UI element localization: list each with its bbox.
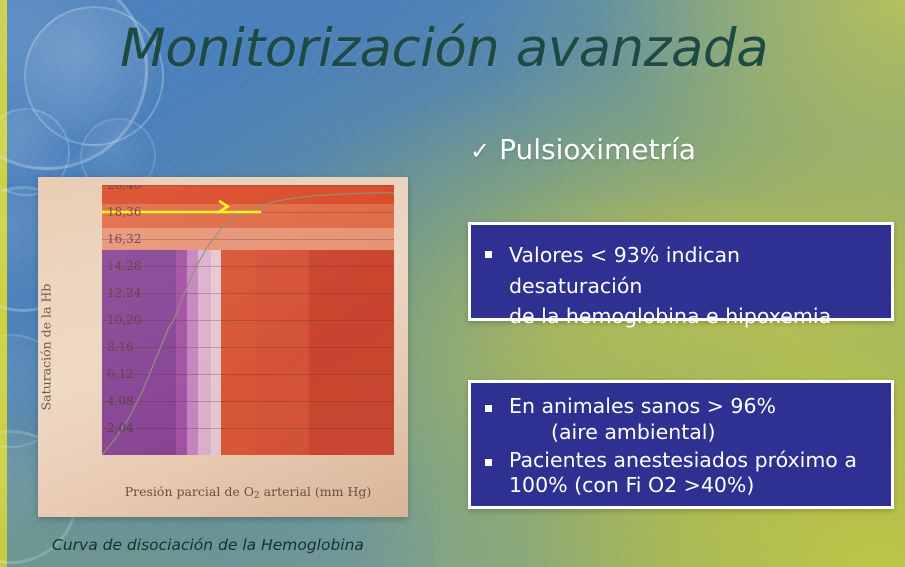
bullet-text: Valores < 93% indican desaturación de la… (509, 240, 879, 332)
section-heading-label: Pulsioximetría (499, 133, 696, 166)
x-axis-label-prefix: Presión parcial de O (125, 484, 254, 499)
section-heading-pulsioximetria: ✓Pulsioximetría (470, 133, 696, 166)
yellow-arrow-head-icon (102, 185, 394, 455)
secondary-axis-label: 10,20 (107, 313, 141, 327)
bullet-text: En animales sanos > 96% (aire ambiental) (509, 394, 776, 446)
left-edge-accent-strip (0, 0, 7, 567)
secondary-axis-label: 4,08 (107, 394, 134, 408)
square-bullet-icon (485, 405, 492, 412)
square-bullet-icon (485, 251, 492, 258)
x-axis-label-suffix: arterial (mm Hg) (260, 484, 372, 499)
secondary-axis-label: 12,24 (107, 286, 141, 300)
bullet-item: Valores < 93% indican desaturación de la… (485, 240, 879, 332)
bullet-line-cont: de la hemoglobina e hipoxemia (509, 301, 879, 332)
hemoglobin-dissociation-chart: 2,044,086,128,1610,2012,2414,2816,3218,3… (38, 177, 408, 517)
bullet-line-cont: 100% (con Fi O2 >40%) (509, 473, 857, 499)
bullet-line-main: Pacientes anestesiados próximo a (509, 448, 857, 472)
bullet-line-main: Valores < 93% indican desaturación (509, 243, 740, 298)
bullet-item: En animales sanos > 96% (aire ambiental) (485, 394, 881, 446)
square-bullet-icon (485, 459, 492, 466)
secondary-axis-label: 14,28 (107, 259, 141, 273)
secondary-axis-label: 20,40 (107, 185, 141, 192)
chart-y-axis-label: Saturación de la Hb (39, 267, 54, 427)
info-box-desaturacion: Valores < 93% indican desaturación de la… (468, 222, 894, 321)
bullet-line-main: En animales sanos > 96% (509, 394, 776, 418)
chart-plot-area: 2,044,086,128,1610,2012,2414,2816,3218,3… (102, 185, 394, 455)
bullet-item: Pacientes anestesiados próximo a 100% (c… (485, 448, 881, 500)
bullet-line-cont: (aire ambiental) (509, 420, 776, 446)
info-box-content: Valores < 93% indican desaturación de la… (471, 225, 891, 332)
secondary-axis-label: 18,36 (107, 205, 141, 219)
bullet-text: Pacientes anestesiados próximo a 100% (c… (509, 448, 857, 500)
info-box-valores-normales: En animales sanos > 96% (aire ambiental)… (468, 380, 894, 509)
secondary-axis-label: 2,04 (107, 421, 134, 435)
info-box-content: En animales sanos > 96% (aire ambiental)… (471, 383, 891, 499)
secondary-axis-label: 6,12 (107, 367, 134, 381)
chart-x-axis-label: Presión parcial de O2 arterial (mm Hg) (102, 484, 394, 501)
chart-caption: Curva de disociación de la Hemoglobina (52, 536, 364, 554)
slide-title: Monitorización avanzada (120, 18, 768, 79)
secondary-axis-label: 16,32 (107, 232, 141, 246)
secondary-axis-label: 8,16 (107, 340, 134, 354)
slide-root: Monitorización avanzada 2,044,086,128,16… (0, 0, 905, 567)
check-icon: ✓ (470, 137, 490, 165)
